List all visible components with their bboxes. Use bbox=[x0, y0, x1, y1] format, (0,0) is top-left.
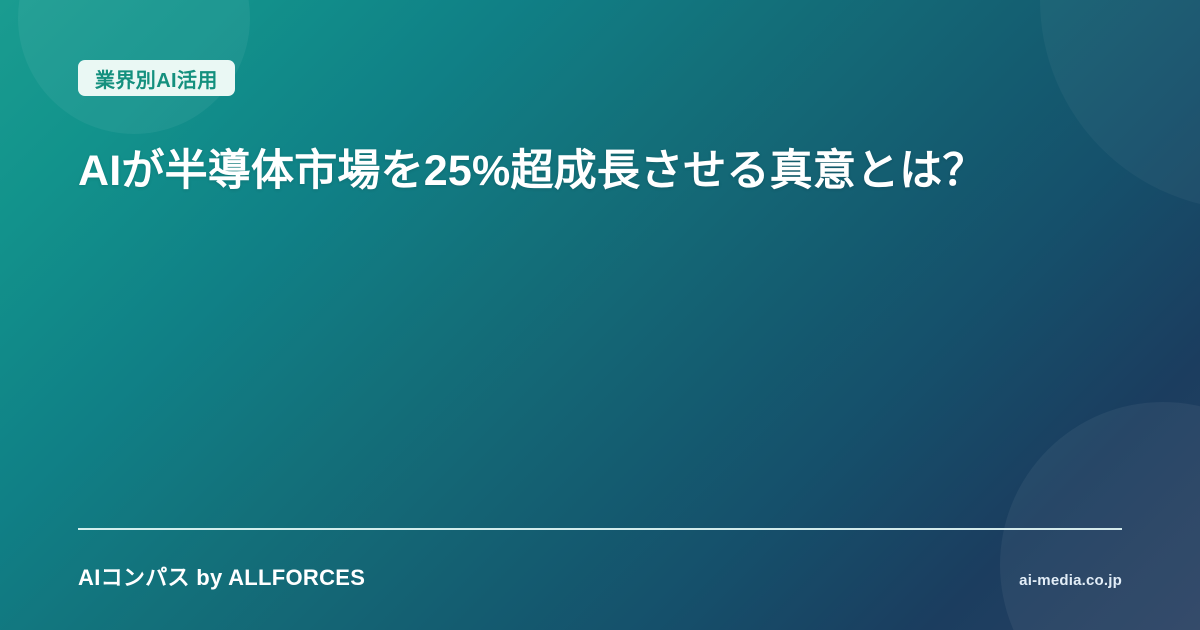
footer-row: AIコンパス by ALLFORCES ai-media.co.jp bbox=[78, 560, 1122, 592]
page-title: AIが半導体市場を25%超成長させる真意とは？ bbox=[78, 143, 1122, 200]
card-content: 業界別AI活用 AIが半導体市場を25%超成長させる真意とは？ bbox=[78, 0, 1122, 630]
og-image-card: 業界別AI活用 AIが半導体市場を25%超成長させる真意とは？ AIコンパス b… bbox=[0, 0, 1200, 630]
site-name: AIコンパス by ALLFORCES bbox=[78, 560, 365, 592]
card-footer: AIコンパス by ALLFORCES ai-media.co.jp bbox=[78, 560, 1122, 592]
site-url: ai-media.co.jp bbox=[1019, 572, 1122, 589]
category-badge: 業界別AI活用 bbox=[78, 60, 235, 96]
footer-divider bbox=[78, 528, 1122, 530]
